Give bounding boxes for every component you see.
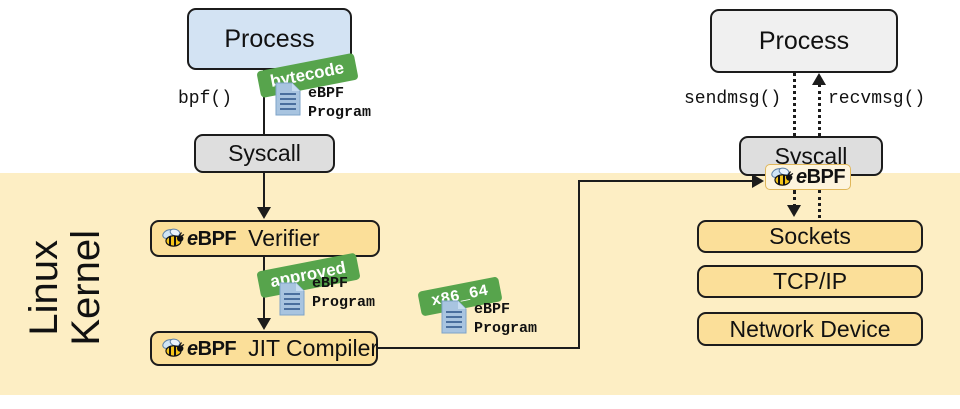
left-syscall-box[interactable]: Syscall	[194, 134, 335, 173]
jit-compiler-box[interactable]: eBPF JIT Compiler	[150, 331, 378, 366]
bytecode-program-text: eBPF Program	[308, 84, 371, 122]
approved-program-text: eBPF Program	[312, 274, 375, 312]
connector-sendmsg-dotted	[793, 73, 796, 136]
jit-compiler-label: JIT Compiler	[248, 335, 378, 362]
network-device-box[interactable]: Network Device	[697, 312, 923, 346]
linux-kernel-label: Linux Kernel	[0, 180, 130, 395]
verifier-box[interactable]: eBPF Verifier	[150, 220, 380, 257]
verifier-label: Verifier	[248, 225, 320, 252]
ebpf-logo-text: eBPF	[796, 167, 845, 187]
left-process-label: Process	[224, 25, 314, 54]
approved-program-line2: Program	[312, 293, 375, 312]
network-device-label: Network Device	[729, 316, 890, 343]
approved-program-line1: eBPF	[312, 274, 375, 293]
bytecode-program-line2: Program	[308, 103, 371, 122]
x86-64-program-line2: Program	[474, 319, 537, 338]
tcp-ip-box[interactable]: TCP/IP	[697, 265, 923, 298]
document-icon	[278, 282, 306, 321]
arrow-down-icon	[787, 205, 801, 217]
ebpf-logo-syscall: eBPF	[771, 167, 845, 188]
connector-sockets-to-syscall-dotted	[818, 190, 821, 218]
ebpf-logo-text: eBPF	[187, 229, 236, 249]
document-icon	[274, 82, 302, 121]
bpf-call-label: bpf()	[178, 89, 232, 109]
connector-jit-segment-to-syscall	[578, 180, 754, 182]
right-process-box[interactable]: Process	[710, 9, 898, 73]
connector-jit-segment-right	[378, 347, 580, 349]
connector-recvmsg-dotted	[818, 84, 821, 136]
sockets-label: Sockets	[769, 223, 851, 250]
sendmsg-call-label: sendmsg()	[684, 89, 781, 109]
diagram-canvas: Linux Kernel Process bpf() bytecode eBPF…	[0, 0, 960, 409]
left-syscall-label: Syscall	[228, 140, 301, 167]
arrow-down-icon	[257, 318, 271, 330]
right-process-label: Process	[759, 27, 849, 56]
syscall-ebpf-badge[interactable]: eBPF	[765, 164, 851, 190]
ebpf-logo-text: eBPF	[187, 339, 236, 359]
arrow-up-icon	[812, 73, 826, 85]
x86-64-program-text: eBPF Program	[474, 300, 537, 338]
tcp-ip-label: TCP/IP	[773, 268, 847, 295]
connector-syscall-to-verifier	[263, 173, 265, 209]
connector-jit-segment-up	[578, 180, 580, 349]
document-icon	[440, 300, 468, 339]
sockets-box[interactable]: Sockets	[697, 220, 923, 253]
bee-icon	[162, 228, 186, 249]
kernel-label-word-kernel: Kernel	[66, 230, 106, 346]
bee-icon	[162, 338, 186, 359]
x86-64-program-line1: eBPF	[474, 300, 537, 319]
bee-icon	[771, 167, 795, 188]
ebpf-logo-jit: eBPF	[162, 338, 236, 359]
ebpf-logo-verifier: eBPF	[162, 228, 236, 249]
bytecode-program-line1: eBPF	[308, 84, 371, 103]
arrow-down-icon	[257, 207, 271, 219]
kernel-label-word-linux: Linux	[24, 240, 64, 336]
arrow-right-icon	[752, 174, 764, 188]
recvmsg-call-label: recvmsg()	[828, 89, 925, 109]
